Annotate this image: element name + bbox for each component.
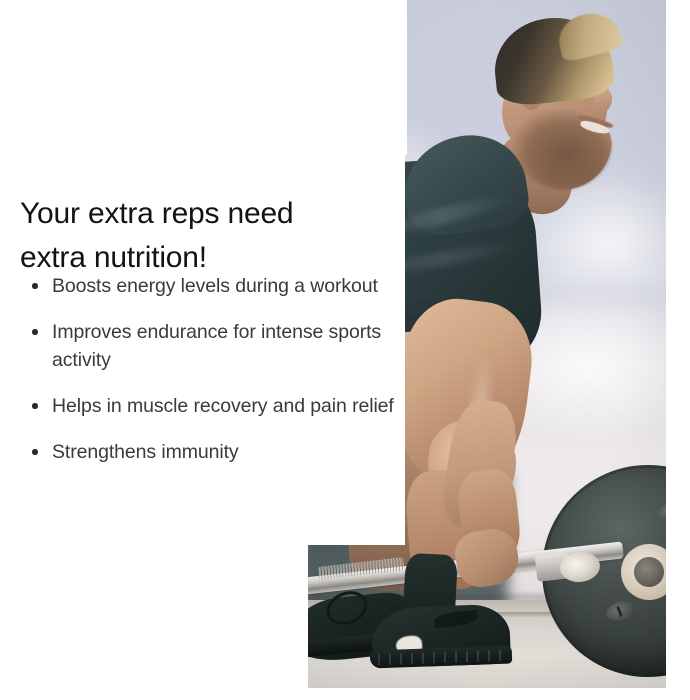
- list-item: Improves endurance for intense sports ac…: [28, 318, 400, 374]
- list-item: Helps in muscle recovery and pain relief: [28, 392, 400, 420]
- athlete-hair-highlight: [554, 7, 624, 63]
- benefits-list: Boosts energy levels during a workout Im…: [28, 272, 400, 466]
- list-item: Boosts energy levels during a workout: [28, 272, 400, 300]
- text-panel: Your extra reps need extra nutrition! Bo…: [0, 0, 400, 700]
- weight-plate-hub-inner: [634, 557, 664, 587]
- page-title: Your extra reps need extra nutrition!: [20, 192, 390, 280]
- list-item: Strengthens immunity: [28, 438, 400, 466]
- promo-graphic: Your extra reps need extra nutrition! Bo…: [0, 0, 690, 700]
